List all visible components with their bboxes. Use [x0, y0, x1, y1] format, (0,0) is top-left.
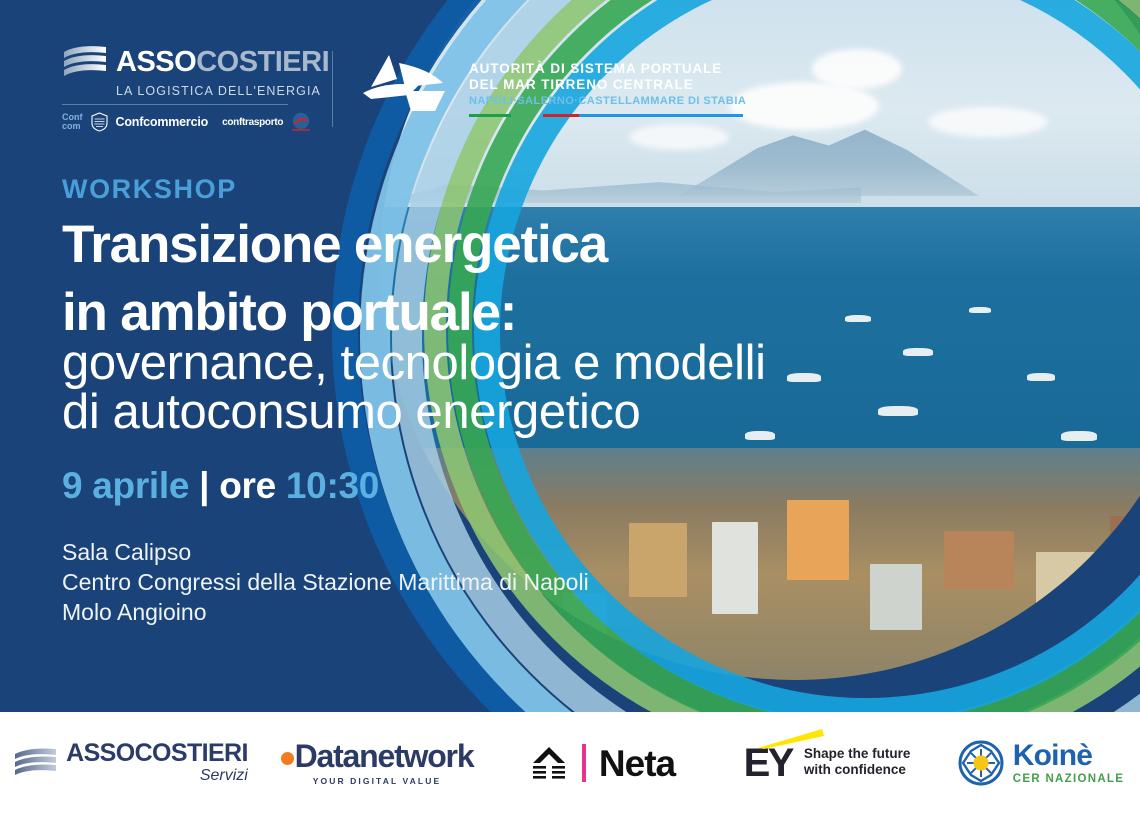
poster-copy: WORKSHOP Transizione energetica in ambit… [62, 176, 1042, 627]
conftrasporto-mark-icon [290, 112, 312, 133]
assocostieri-logo: ASSOCOSTIERI LA LOGISTICA DELL'ENERGIA C… [62, 44, 302, 134]
subtitle-line-1: governance, tecnologia e modelli [62, 339, 1042, 388]
time-label: ore [219, 465, 276, 506]
koine-tagline: CER NAZIONALE [1013, 773, 1124, 785]
port-authority-line1: AUTORITÀ DI SISTEMA PORTUALE [469, 61, 746, 77]
neta-wordmark: Neta [599, 745, 675, 782]
flag-blue [579, 114, 743, 117]
sponsor-ey: EY Shape the future with confidence [712, 745, 942, 781]
datetime-separator: | [199, 465, 209, 506]
sail-ship-mark-icon [359, 53, 455, 125]
neta-divider-bar [582, 744, 586, 782]
venue-line-1: Sala Calipso [62, 537, 1042, 567]
waves-mark-icon [14, 747, 58, 779]
conftrasporto-label: conftrasporto [222, 117, 283, 128]
event-datetime: 9 aprile | ore 10:30 [62, 465, 1042, 507]
venue-block: Sala Calipso Centro Congressi della Staz… [62, 537, 1042, 627]
event-date: 9 aprile [62, 465, 189, 506]
assocostieri-servizi-wordmark: ASSOCOSTIERI [66, 741, 248, 766]
confcommercio-label: Confcommercio [116, 115, 209, 129]
assocostieri-affiliates: Conf com Confcommercio conftrasporto [62, 110, 302, 134]
title-line-1: Transizione energetica [62, 219, 1042, 271]
poster-stage: ASSOCOSTIERI LA LOGISTICA DELL'ENERGIA C… [0, 0, 1140, 712]
ey-yellow-beam-icon [758, 729, 824, 749]
port-authority-text: AUTORITÀ DI SISTEMA PORTUALE DEL MAR TIR… [469, 61, 746, 117]
event-time: 10:30 [286, 465, 379, 506]
neta-chevron-mark-icon [529, 746, 569, 780]
sponsor-koine: Koinè CER NAZIONALE [942, 740, 1140, 786]
sponsor-footer: ASSOCOSTIERI Servizi Datanetwork YOUR DI… [0, 712, 1140, 814]
confcom-label: Conf com [62, 113, 83, 131]
ey-wordmark: EY [744, 745, 792, 781]
port-authority-logo: AUTORITÀ DI SISTEMA PORTUALE DEL MAR TIR… [359, 53, 746, 125]
koine-text: Koinè CER NAZIONALE [1013, 741, 1124, 785]
port-authority-line3: NAPOLI·SALERNO·CASTELLAMMARE DI STABIA [469, 95, 746, 107]
port-authority-line2: DEL MAR TIRRENO CENTRALE [469, 77, 746, 93]
assocostieri-servizi-text: ASSOCOSTIERI Servizi [66, 741, 248, 785]
confcommercio-shield-icon [90, 112, 109, 132]
venue-line-3: Molo Angioino [62, 597, 1042, 627]
datanetwork-tagline: YOUR DIGITAL VALUE [281, 776, 474, 786]
koine-wordmark: Koinè [1013, 741, 1124, 771]
koine-star-mark-icon [958, 740, 1004, 786]
orange-dot-icon [281, 752, 294, 765]
waves-mark-icon [62, 44, 108, 80]
ey-tagline-line-2: with confidence [804, 762, 911, 778]
flag-red [543, 114, 579, 117]
header-divider [332, 51, 333, 127]
sponsor-assocostieri-servizi: ASSOCOSTIERI Servizi [0, 741, 262, 785]
venue-line-2: Centro Congressi della Stazione Marittim… [62, 567, 1042, 597]
sponsor-datanetwork: Datanetwork YOUR DIGITAL VALUE [262, 740, 492, 786]
title-line-2: in ambito portuale: [62, 287, 1042, 339]
ey-tagline: Shape the future with confidence [804, 746, 911, 781]
assocostieri-wordmark: ASSOCOSTIERI [116, 48, 329, 77]
port-authority-flagbar [469, 114, 743, 117]
sponsor-neta: Neta [492, 744, 712, 782]
assocostieri-servizi-sub: Servizi [66, 767, 248, 785]
kicker-label: WORKSHOP [62, 176, 1042, 203]
flag-green [469, 114, 511, 117]
assocostieri-rule [62, 104, 288, 105]
datanetwork-wordmark: Datanetwork [281, 740, 474, 772]
assocostieri-tagline: LA LOGISTICA DELL'ENERGIA [116, 84, 302, 98]
event-poster: ASSOCOSTIERI LA LOGISTICA DELL'ENERGIA C… [0, 0, 1140, 814]
header-logos: ASSOCOSTIERI LA LOGISTICA DELL'ENERGIA C… [62, 44, 746, 134]
flag-white [511, 114, 543, 117]
subtitle-line-2: di autoconsumo energetico [62, 388, 1042, 437]
